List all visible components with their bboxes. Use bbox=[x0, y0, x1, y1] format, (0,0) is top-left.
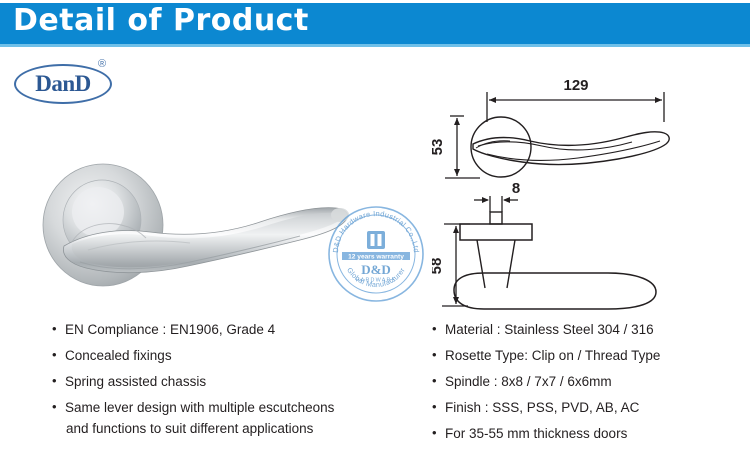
product-photo bbox=[28, 150, 358, 315]
list-item: Spindle : 8x8 / 7x7 / 6x6mm bbox=[432, 374, 742, 389]
spec-text: Spring assisted chassis bbox=[65, 374, 206, 389]
seal-center-subtext: HARDWARE bbox=[356, 278, 397, 284]
spec-list-left: EN Compliance : EN1906, Grade 4 Conceale… bbox=[52, 322, 412, 447]
list-item: Rosette Type: Clip on / Thread Type bbox=[432, 348, 742, 363]
logo-text: DanD bbox=[14, 64, 112, 104]
spec-text: Spindle : 8x8 / 7x7 / 6x6mm bbox=[445, 374, 612, 389]
list-item: Concealed fixings bbox=[52, 348, 412, 363]
registered-trademark-icon: ® bbox=[98, 58, 106, 70]
spec-text: Finish : SSS, PSS, PVD, AB, AC bbox=[445, 400, 639, 415]
spec-text: Concealed fixings bbox=[65, 348, 172, 363]
spec-text: Same lever design with multiple escutche… bbox=[65, 400, 334, 415]
spec-text: For 35-55 mm thickness doors bbox=[445, 426, 627, 441]
dimension-label-rosette-height: 53 bbox=[432, 139, 446, 156]
list-item: Same lever design with multiple escutche… bbox=[52, 400, 412, 436]
technical-drawing-front-view: 129 53 bbox=[432, 78, 702, 190]
list-item: Spring assisted chassis bbox=[52, 374, 412, 389]
seal-warranty-text: 12 years warranty bbox=[348, 253, 404, 260]
spec-text: Rosette Type: Clip on / Thread Type bbox=[445, 348, 660, 363]
brand-logo: DanD ® bbox=[14, 58, 134, 108]
spec-text: EN Compliance : EN1906, Grade 4 bbox=[65, 322, 275, 337]
seal-center-text: D&D bbox=[361, 262, 391, 277]
specifications: EN Compliance : EN1906, Grade 4 Conceale… bbox=[0, 322, 750, 451]
dimension-label-length: 129 bbox=[563, 78, 588, 94]
technical-drawing-side-view: 8 58 bbox=[432, 178, 702, 310]
header-underline bbox=[0, 44, 750, 47]
page-title: Detail of Product bbox=[13, 4, 309, 38]
spec-text-continuation: and functions to suit different applicat… bbox=[66, 421, 412, 436]
spec-text: Material : Stainless Steel 304 / 316 bbox=[445, 322, 654, 337]
dimension-label-spindle-width: 8 bbox=[512, 180, 520, 197]
watermark-seal: D&D Hardware Industrial Co.,Ltd Global M… bbox=[326, 204, 426, 304]
list-item: EN Compliance : EN1906, Grade 4 bbox=[52, 322, 412, 337]
list-item: Finish : SSS, PSS, PVD, AB, AC bbox=[432, 400, 742, 415]
dimension-label-projection: 58 bbox=[432, 258, 445, 275]
list-item: For 35-55 mm thickness doors bbox=[432, 426, 742, 441]
product-detail-page: Detail of Product DanD ® bbox=[0, 0, 750, 451]
list-item: Material : Stainless Steel 304 / 316 bbox=[432, 322, 742, 337]
spec-list-right: Material : Stainless Steel 304 / 316 Ros… bbox=[432, 322, 742, 452]
